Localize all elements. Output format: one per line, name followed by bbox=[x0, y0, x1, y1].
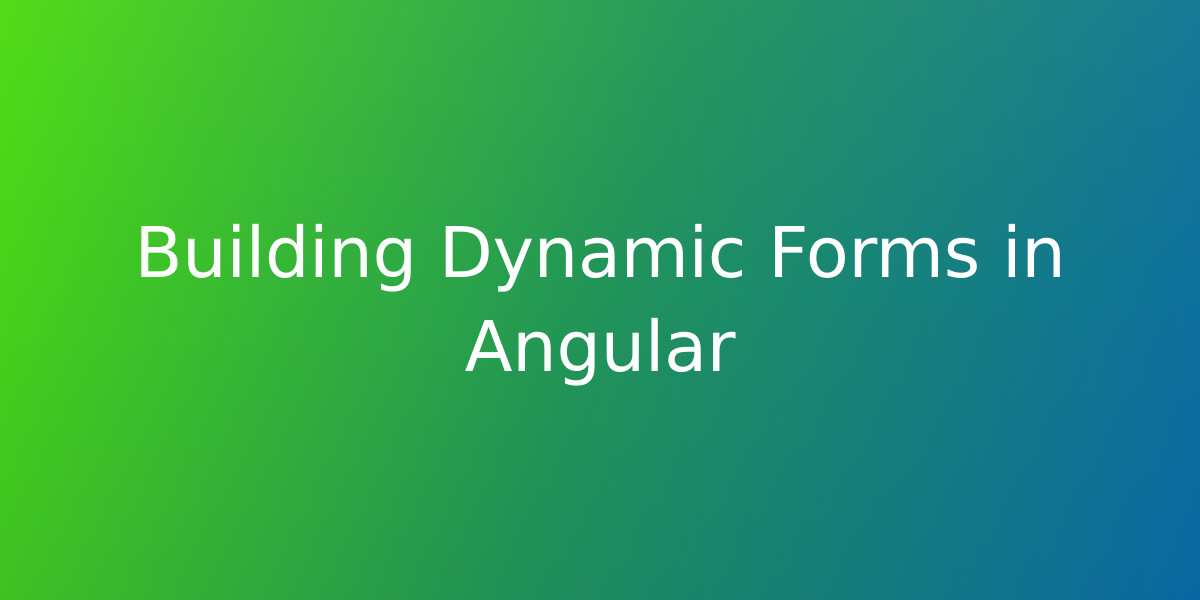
banner-content: Building Dynamic Forms in Angular bbox=[0, 0, 1200, 600]
banner-title: Building Dynamic Forms in Angular bbox=[70, 206, 1130, 394]
banner-card: Building Dynamic Forms in Angular bbox=[0, 0, 1200, 600]
